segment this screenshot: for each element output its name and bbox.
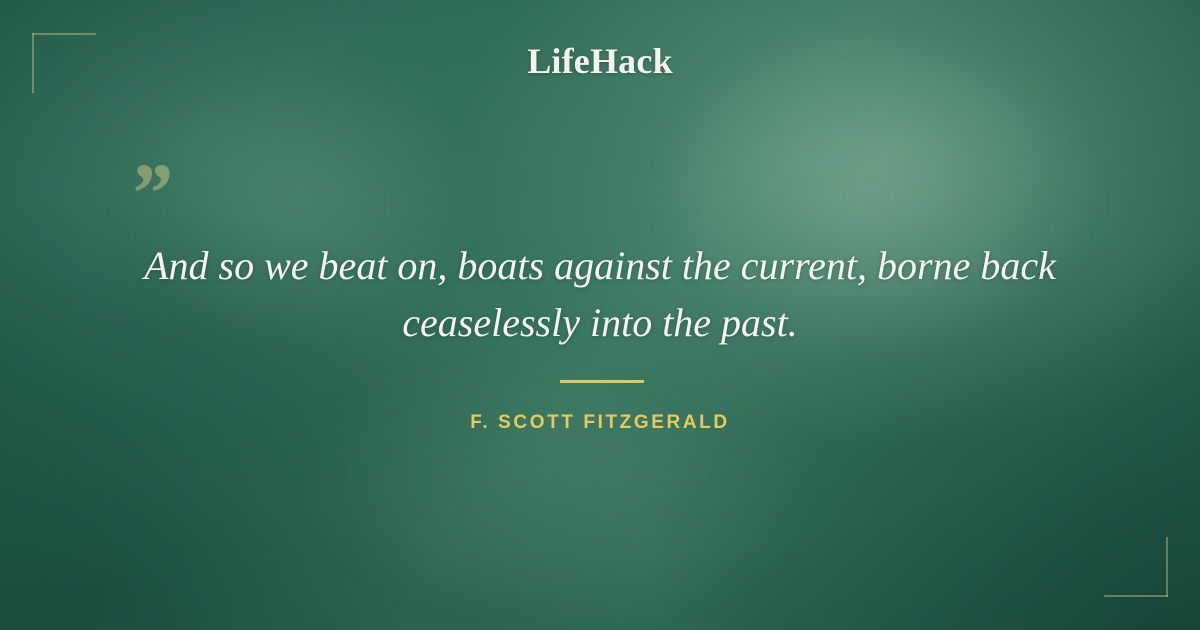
corner-bracket-bottom-right-horizontal bbox=[1104, 595, 1168, 597]
quote-author: F. SCOTT FITZGERALD bbox=[0, 412, 1200, 434]
corner-bracket-top-left-horizontal bbox=[32, 33, 96, 35]
quote-card-canvas: LifeHack ” And so we beat on, boats agai… bbox=[0, 0, 1200, 630]
corner-bracket-bottom-right-vertical bbox=[1166, 537, 1168, 597]
corner-bracket-bottom-right-icon bbox=[1104, 537, 1168, 597]
quote-mark-icon: ” bbox=[128, 150, 171, 236]
background-highlight-lower-center bbox=[300, 330, 820, 630]
brand-logo: LifeHack bbox=[0, 40, 1200, 82]
divider-rule bbox=[560, 380, 644, 383]
quote-text: And so we beat on, boats against the cur… bbox=[100, 238, 1100, 352]
